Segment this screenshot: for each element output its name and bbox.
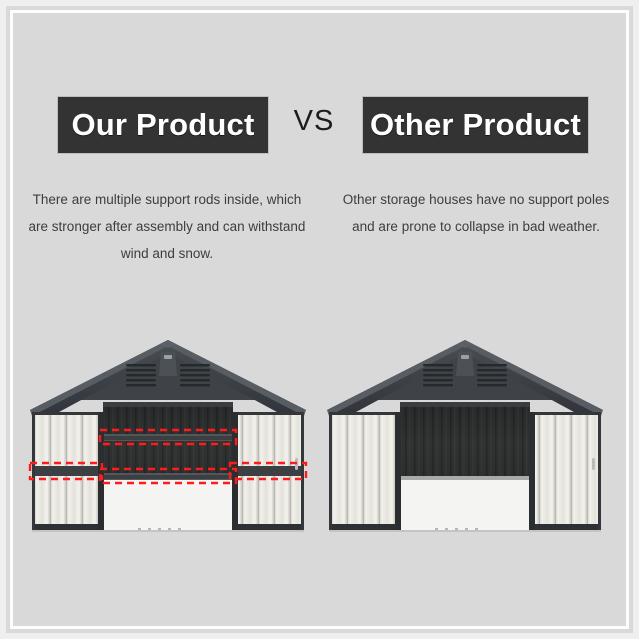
our-product-label: Our Product	[71, 107, 254, 143]
our-product-title-box: Our Product	[57, 96, 269, 154]
vs-label: VS	[288, 105, 340, 138]
our-product-shed-image	[18, 300, 318, 550]
other-product-shed-image	[315, 300, 615, 550]
our-product-description: There are multiple support rods inside, …	[24, 186, 310, 267]
other-product-description: Other storage houses have no support pol…	[336, 186, 616, 240]
other-product-title-box: Other Product	[362, 96, 589, 154]
comparison-infographic: Our Product VS Other Product There are m…	[0, 0, 639, 639]
header-row: Our Product VS Other Product	[0, 96, 639, 154]
other-product-label: Other Product	[370, 107, 581, 143]
shed-illustration-row	[0, 300, 639, 550]
